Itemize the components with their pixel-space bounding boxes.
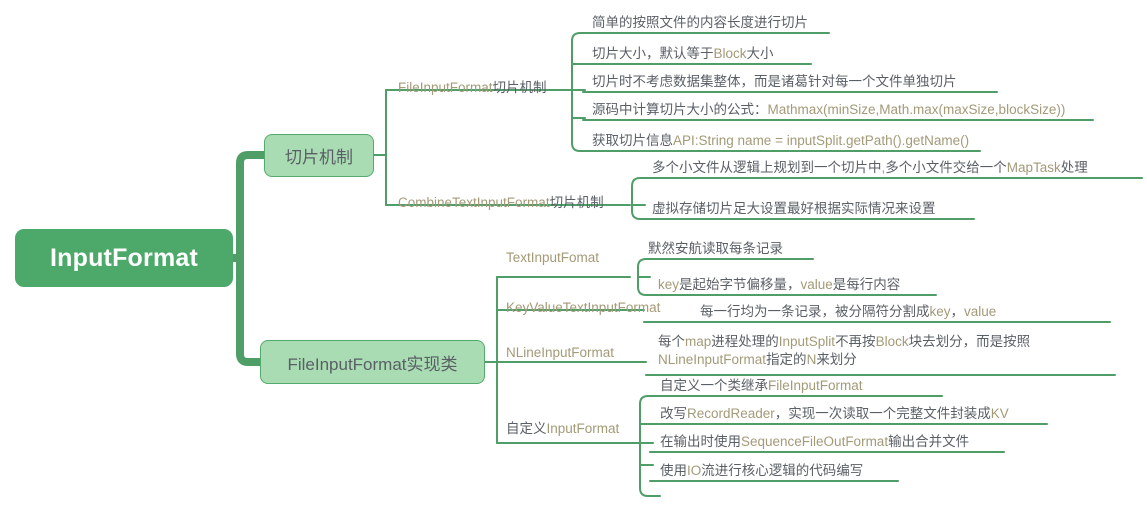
root-node[interactable]: InputFormat [15,229,233,287]
leaf-combine-logical[interactable]: 多个小文件从逻辑上规划到一个切片中,多个小文件交给一个MapTask处理 [652,159,1088,180]
branch-node-label: 切片机制 [285,143,353,168]
leaf-io-stream[interactable]: 使用IO流进行核心逻辑的代码编写 [660,462,863,483]
leaf-text: 简单的按照文件的内容长度进行切片 [592,15,808,30]
mindmap-canvas: InputFormat 切片机制 FileInputFormat实现类 File… [0,0,1147,506]
leaf-text: 切片时不考虑数据集整体，而是诸葛针对每一个文件单独切片 [592,74,957,89]
leaf-key-value[interactable]: key是起始字节偏移量，value是每行内容 [658,276,900,297]
leaf-text: 自定义一个类继承FileInputFormat [660,378,863,393]
subbranch-label-textinputformat[interactable]: TextInputFomat [506,250,599,267]
subbranch-label-combinetextinputformat-slice[interactable]: CombineTextInputFormat切片机制 [398,195,604,212]
leaf-slice-size[interactable]: 切片大小，默认等于Block大小 [592,45,774,66]
leaf-simple-length[interactable]: 简单的按照文件的内容长度进行切片 [592,14,808,35]
leaf-nline-split[interactable]: 每个map进程处理的InputSplit不再按Block块去划分，而是按照NLi… [658,333,1110,372]
leaf-text: 使用IO流进行核心逻辑的代码编写 [660,463,863,478]
leaf-default-read[interactable]: 默然安航读取每条记录 [648,240,783,261]
branch-node-slice-mechanism[interactable]: 切片机制 [264,134,374,177]
leaf-virtual-store[interactable]: 虚拟存储切片足大设置最好根据实际情况来设置 [652,200,936,221]
leaf-text: 切片大小，默认等于Block大小 [592,46,774,61]
subbranch-label-keyvaluetextinputformat[interactable]: KeyValueTextInputFormat [506,300,660,317]
subbranch-label-fileinputformat-slice[interactable]: FileInputFormat切片机制 [398,80,547,97]
leaf-kv-line[interactable]: 每一行均为一条记录，被分隔符分割成key，value [700,303,996,324]
leaf-api[interactable]: 获取切片信息API:String name = inputSplit.getPa… [592,132,969,153]
leaf-recordreader[interactable]: 改写RecordReader，实现一次读取一个完整文件封装成KV [660,405,1009,426]
leaf-sequencefile[interactable]: 在输出时使用SequenceFileOutFormat输出合并文件 [660,433,969,454]
leaf-text: 改写RecordReader，实现一次读取一个完整文件封装成KV [660,406,1009,421]
branch-node-label: FileInputFormat实现类 [287,350,457,375]
leaf-text: 虚拟存储切片足大设置最好根据实际情况来设置 [652,201,936,216]
leaf-text: 每一行均为一条记录，被分隔符分割成key，value [700,304,996,319]
leaf-not-whole-dataset[interactable]: 切片时不考虑数据集整体，而是诸葛针对每一个文件单独切片 [592,73,957,94]
leaf-extend-class[interactable]: 自定义一个类继承FileInputFormat [660,377,863,398]
branch-node-fileinputformat-impl[interactable]: FileInputFormat实现类 [260,340,485,384]
leaf-text: key是起始字节偏移量，value是每行内容 [658,277,900,292]
leaf-text: 获取切片信息API:String name = inputSplit.getPa… [592,133,969,148]
leaf-text: 每个map进程处理的InputSplit不再按Block块去划分，而是按照NLi… [658,334,1030,367]
leaf-text: 默然安航读取每条记录 [648,241,783,256]
leaf-text: 多个小文件从逻辑上规划到一个切片中,多个小文件交给一个MapTask处理 [652,160,1088,175]
root-node-label: InputFormat [50,244,198,273]
subbranch-label-custom-inputformat[interactable]: 自定义InputFormat [506,421,619,438]
leaf-text: 源码中计算切片大小的公式：Mathmax(minSize,Math.max(ma… [592,102,1065,117]
leaf-formula[interactable]: 源码中计算切片大小的公式：Mathmax(minSize,Math.max(ma… [592,101,1065,122]
subbranch-label-nlineinputformat[interactable]: NLineInputFormat [506,345,614,362]
leaf-text: 在输出时使用SequenceFileOutFormat输出合并文件 [660,434,969,449]
